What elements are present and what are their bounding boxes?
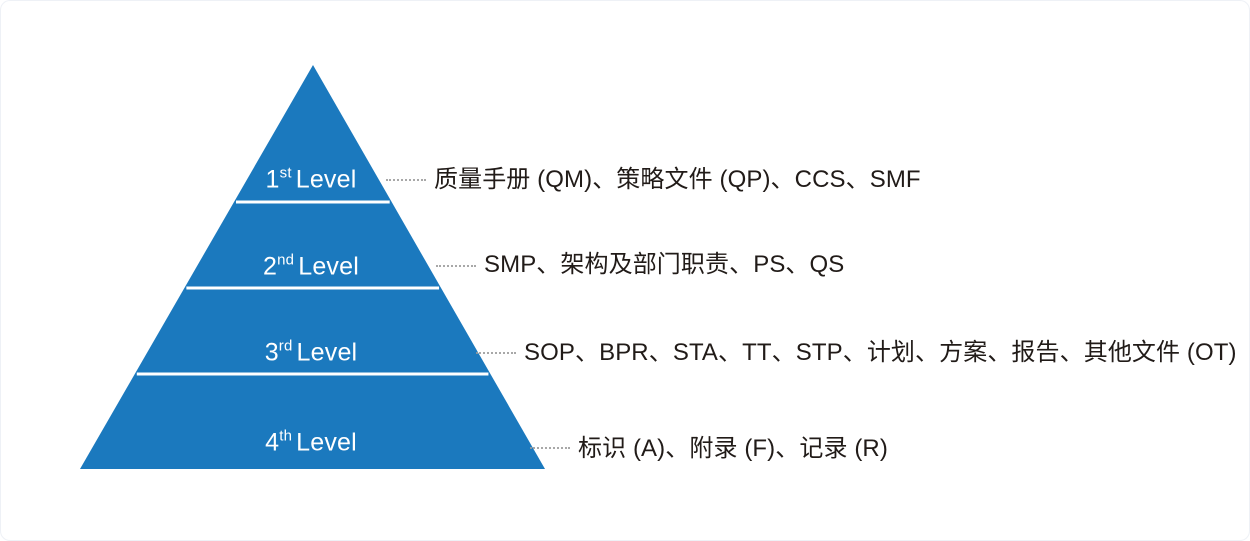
level-1-word: Level (296, 166, 357, 194)
level-1-number: 1 (266, 166, 280, 194)
description-level-1: 质量手册 (QM)、策略文件 (QP)、CCS、SMF (434, 167, 921, 193)
level-2-number: 2 (263, 253, 277, 281)
level-4-word: Level (296, 429, 357, 457)
connector-line-level-2 (436, 265, 476, 267)
connector-line-level-4 (530, 447, 570, 449)
diagram-canvas: 1stLevel 2ndLevel 3rdLevel 4thLevel 质量手册… (0, 0, 1250, 541)
description-level-2: SMP、架构及部门职责、PS、QS (484, 252, 844, 278)
level-4-ordinal: th (279, 427, 292, 444)
description-level-4: 标识 (A)、附录 (F)、记录 (R) (578, 436, 888, 462)
pyramid-level-4-label: 4thLevel (265, 431, 357, 456)
connector-line-level-1 (386, 179, 426, 181)
pyramid-level-3-label: 3rdLevel (265, 341, 358, 366)
connector-line-level-3 (476, 352, 516, 354)
level-4-number: 4 (265, 429, 279, 457)
pyramid-level-1-label: 1stLevel (266, 168, 357, 193)
description-level-3: SOP、BPR、STA、TT、STP、计划、方案、报告、其他文件 (OT) (524, 340, 1237, 366)
level-1-ordinal: st (280, 164, 292, 181)
level-3-word: Level (297, 339, 358, 367)
level-3-ordinal: rd (279, 337, 293, 354)
level-2-ordinal: nd (277, 251, 294, 268)
level-2-word: Level (298, 253, 359, 281)
pyramid-level-2-label: 2ndLevel (263, 255, 359, 280)
level-3-number: 3 (265, 339, 279, 367)
